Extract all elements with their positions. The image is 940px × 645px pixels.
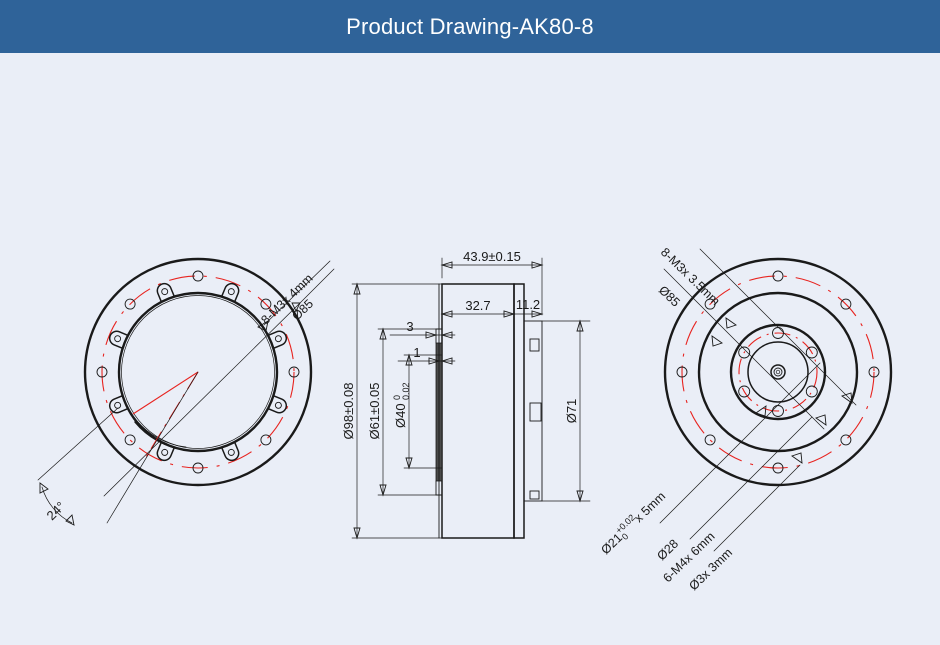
front-tab-hole <box>227 448 235 456</box>
rear-arrow <box>712 336 722 346</box>
front-tab-hole <box>274 401 282 409</box>
front-angle-arrow-b <box>66 515 74 525</box>
front-tab-hole <box>161 448 169 456</box>
front-bolt-hole <box>261 435 271 445</box>
section-view: 43.9±0.15 32.7 11.2 3 1 Ø98±0.08 <box>341 249 590 538</box>
section-bore-tol-lower: 0.02 <box>401 382 411 400</box>
rear-leader-pin <box>714 465 800 551</box>
front-angle-ref-a <box>38 408 118 480</box>
section-body <box>442 284 514 538</box>
rear-mid-circle <box>699 293 857 451</box>
front-angle-arrow-a <box>40 483 48 493</box>
section-mid-diameter-label: Ø61±0.05 <box>367 382 382 439</box>
section-body-length-label: 32.7 <box>465 298 490 313</box>
rear-bore-circle <box>748 342 808 402</box>
front-view: 24° 8-M3x 4mm Ø85 <box>38 259 334 525</box>
section-overall-length-label: 43.9±0.15 <box>463 249 521 264</box>
rear-arrow <box>816 415 826 425</box>
rear-inner-hole <box>806 386 817 397</box>
section-bore-diameter-label: Ø40 <box>393 403 408 428</box>
rear-shaft-center <box>776 370 780 374</box>
rear-view: 8-M3x 3.5mm Ø85 Ø21 +0.02 0 x 5mm Ø28 6-… <box>596 245 891 593</box>
section-outer-diameter-label: Ø98±0.08 <box>341 382 356 439</box>
rear-inner-holes <box>739 328 818 417</box>
title-bar: Product Drawing-AK80-8 <box>0 0 940 53</box>
section-flange-tab-mid <box>530 403 541 421</box>
page-title: Product Drawing-AK80-8 <box>346 14 594 40</box>
section-rear-plate <box>514 284 524 538</box>
section-rear-diameter-label: Ø71 <box>564 399 579 424</box>
drawing-canvas: 24° 8-M3x 4mm Ø85 43.9±0.15 32.7 <box>0 53 940 645</box>
rear-arrow <box>792 453 802 463</box>
front-tab-hole <box>274 335 282 343</box>
rear-arrow <box>726 318 736 328</box>
rear-arrow <box>842 393 852 403</box>
front-tab-hole <box>114 335 122 343</box>
section-flange-length-label: 11.2 <box>516 297 540 312</box>
section-flange-tab-bot <box>530 491 539 499</box>
front-tab-hole <box>161 288 169 296</box>
rear-inner-bolt-circle-red <box>739 333 817 411</box>
front-red-leader-a <box>133 372 198 414</box>
section-step3-label: 3 <box>406 319 413 334</box>
section-bore-diameter-group: Ø40 0 0.02 <box>392 382 411 428</box>
rear-leader-shaft <box>660 363 820 523</box>
rear-shaft-depth-label: x 5mm <box>631 489 668 525</box>
front-tab-hole <box>227 288 235 296</box>
section-step1-label: 1 <box>413 345 420 360</box>
rear-outer-hole <box>841 435 851 445</box>
front-angle-label: 24° <box>44 499 69 524</box>
front-diameter-leader <box>104 303 300 496</box>
rear-bolt-circle-outer-label: Ø85 <box>656 283 683 310</box>
section-flange-tab-top <box>530 339 539 351</box>
rear-shaft-inner <box>774 368 782 376</box>
rear-shaft-outer <box>771 365 785 379</box>
